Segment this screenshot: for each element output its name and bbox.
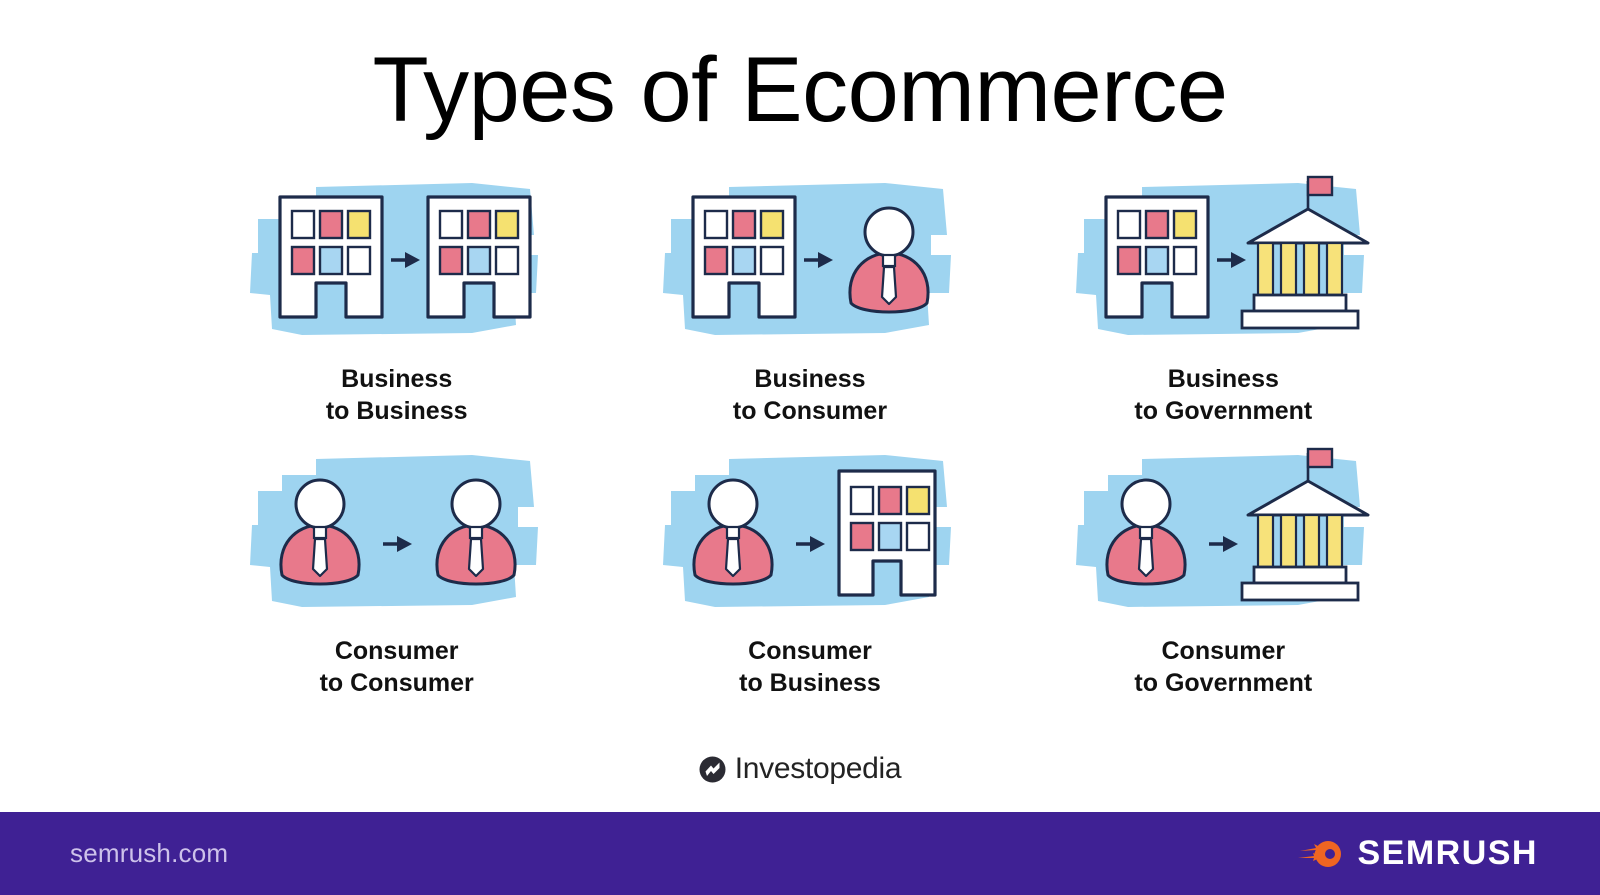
type-label-c2c: Consumer to Consumer (320, 635, 474, 699)
type-card-b2b[interactable]: Business to Business (190, 175, 603, 447)
type-card-b2g[interactable]: Business to Government (1017, 175, 1430, 447)
flag-icon (1308, 177, 1332, 195)
ecommerce-types-grid: Business to Business (190, 175, 1430, 720)
type-label-b2g: Business to Government (1134, 363, 1312, 427)
type-label-b2b: Business to Business (326, 363, 468, 427)
type-card-b2c[interactable]: Business to Consumer (603, 175, 1016, 447)
illustration-business-to-government (1068, 175, 1378, 355)
semrush-brand: SEMRUSH (1298, 834, 1538, 873)
page-title: Types of Ecommerce (0, 44, 1600, 136)
type-card-c2g[interactable]: Consumer to Government (1017, 447, 1430, 719)
type-card-c2c[interactable]: Consumer to Consumer (190, 447, 603, 719)
flag-icon (1308, 449, 1332, 467)
infographic-canvas: Types of Ecommerce (0, 0, 1600, 895)
investopedia-wordmark: Investopedia (735, 752, 902, 786)
illustration-consumer-to-government (1068, 447, 1378, 627)
investopedia-attribution: Investopedia (0, 752, 1600, 786)
semrush-wordmark: SEMRUSH (1357, 834, 1538, 873)
illustration-consumer-to-business (655, 447, 965, 627)
investopedia-logo-icon (699, 756, 726, 783)
footer-url[interactable]: semrush.com (70, 838, 228, 869)
illustration-consumer-to-consumer (242, 447, 552, 627)
type-label-c2g: Consumer to Government (1134, 635, 1312, 699)
illustration-business-to-consumer (655, 175, 965, 355)
semrush-comet-icon (1298, 837, 1344, 871)
footer-bar: semrush.com SEMRUSH (0, 812, 1600, 895)
type-label-b2c: Business to Consumer (733, 363, 887, 427)
type-label-c2b: Consumer to Business (739, 635, 881, 699)
illustration-business-to-business (242, 175, 552, 355)
type-card-c2b[interactable]: Consumer to Business (603, 447, 1016, 719)
